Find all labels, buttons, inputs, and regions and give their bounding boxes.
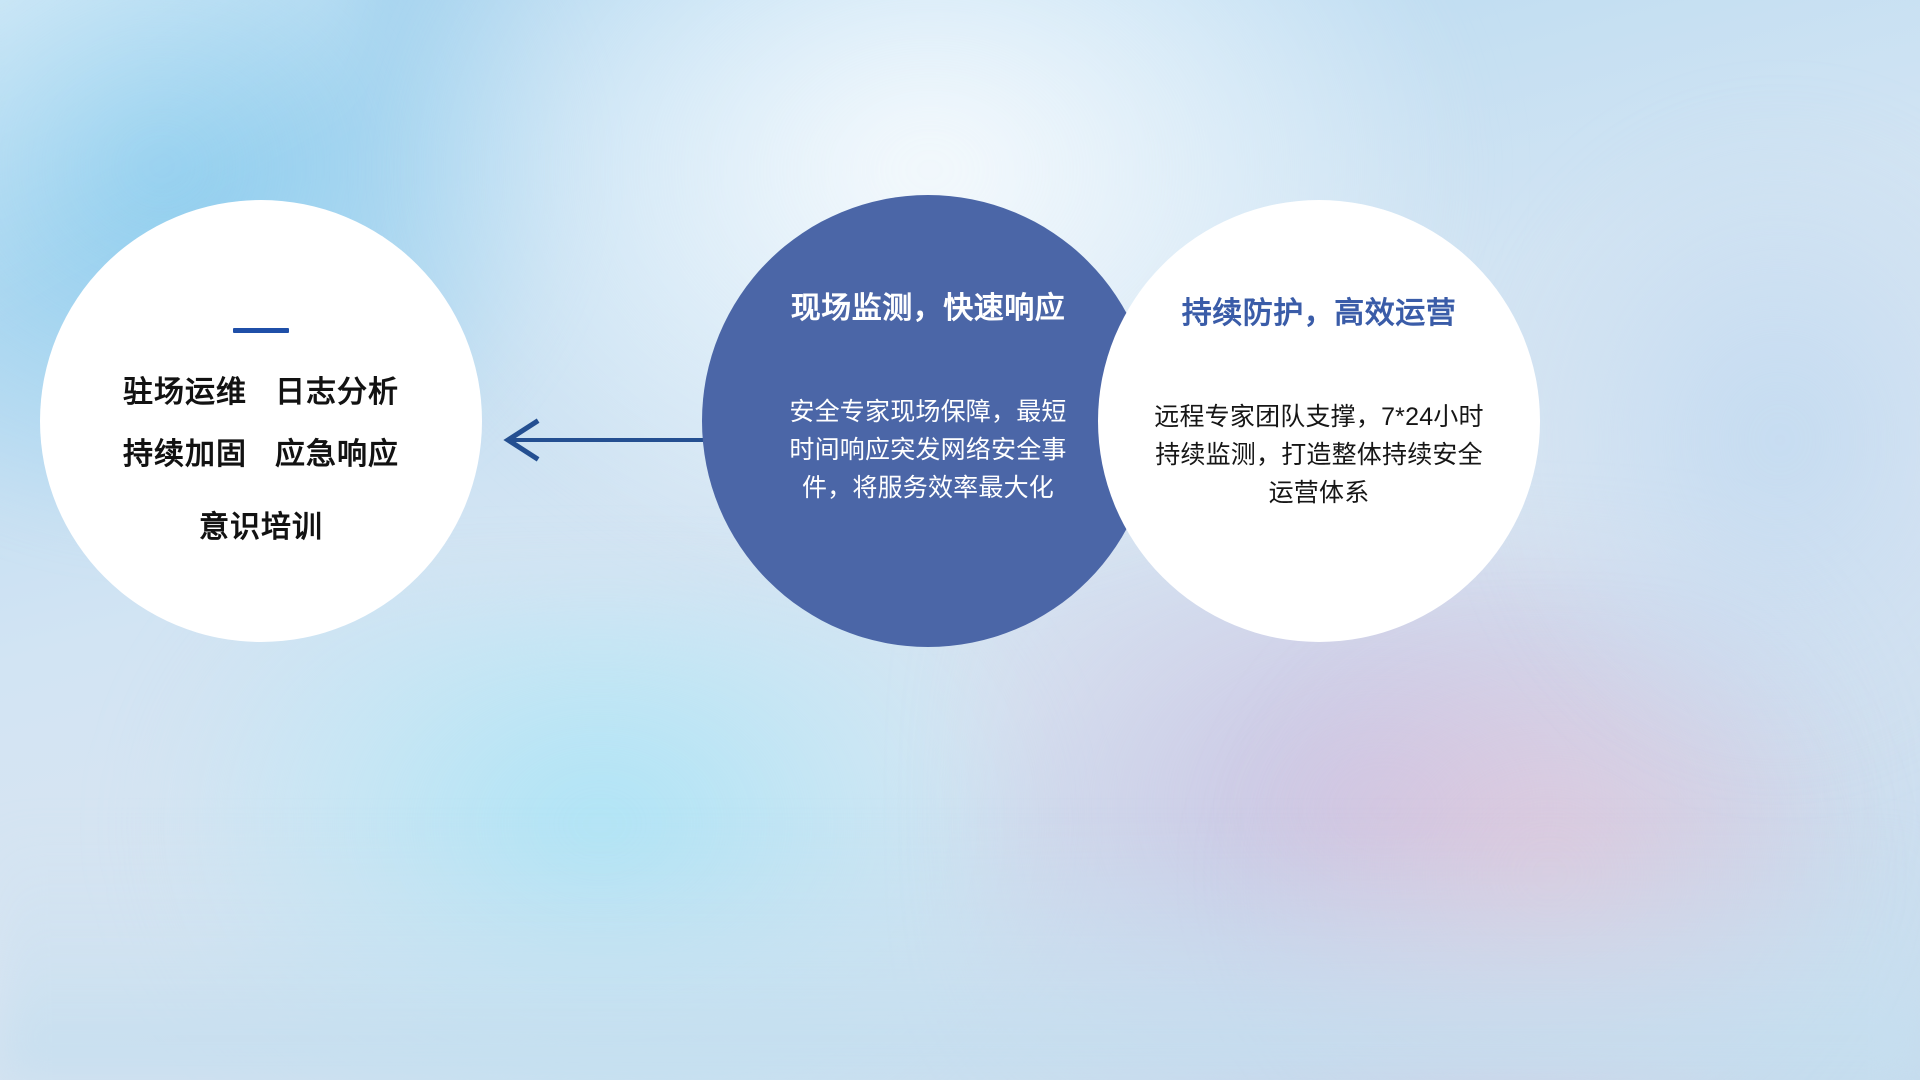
right-circle-body: 远程专家团队支撑，7*24小时持续监测，打造整体持续安全运营体系: [1149, 398, 1489, 512]
circle-right-continuous-protection[interactable]: 持续防护，高效运营 远程专家团队支撑，7*24小时持续监测，打造整体持续安全运营…: [1098, 200, 1540, 642]
right-circle-title: 持续防护，高效运营: [1182, 288, 1457, 332]
slide-canvas: 现场监测，快速响应 安全专家现场保障，最短时间响应突发网络安全事件，将服务效率最…: [0, 0, 1920, 1080]
circle-middle-onsite-monitoring[interactable]: 现场监测，快速响应 安全专家现场保障，最短时间响应突发网络安全事件，将服务效率最…: [702, 195, 1154, 647]
left-circle-line-3: 意识培训: [199, 512, 323, 544]
left-circle-line-2: 持续加固 应急响应: [123, 439, 399, 471]
middle-circle-title: 现场监测，快速响应: [791, 283, 1066, 327]
left-circle-line-1: 驻场运维 日志分析: [123, 377, 399, 409]
middle-circle-body: 安全专家现场保障，最短时间响应突发网络安全事件，将服务效率最大化: [778, 393, 1078, 507]
divider-rule-icon: [233, 328, 289, 333]
circle-left-service-items[interactable]: 驻场运维 日志分析 持续加固 应急响应 意识培训: [40, 200, 482, 642]
